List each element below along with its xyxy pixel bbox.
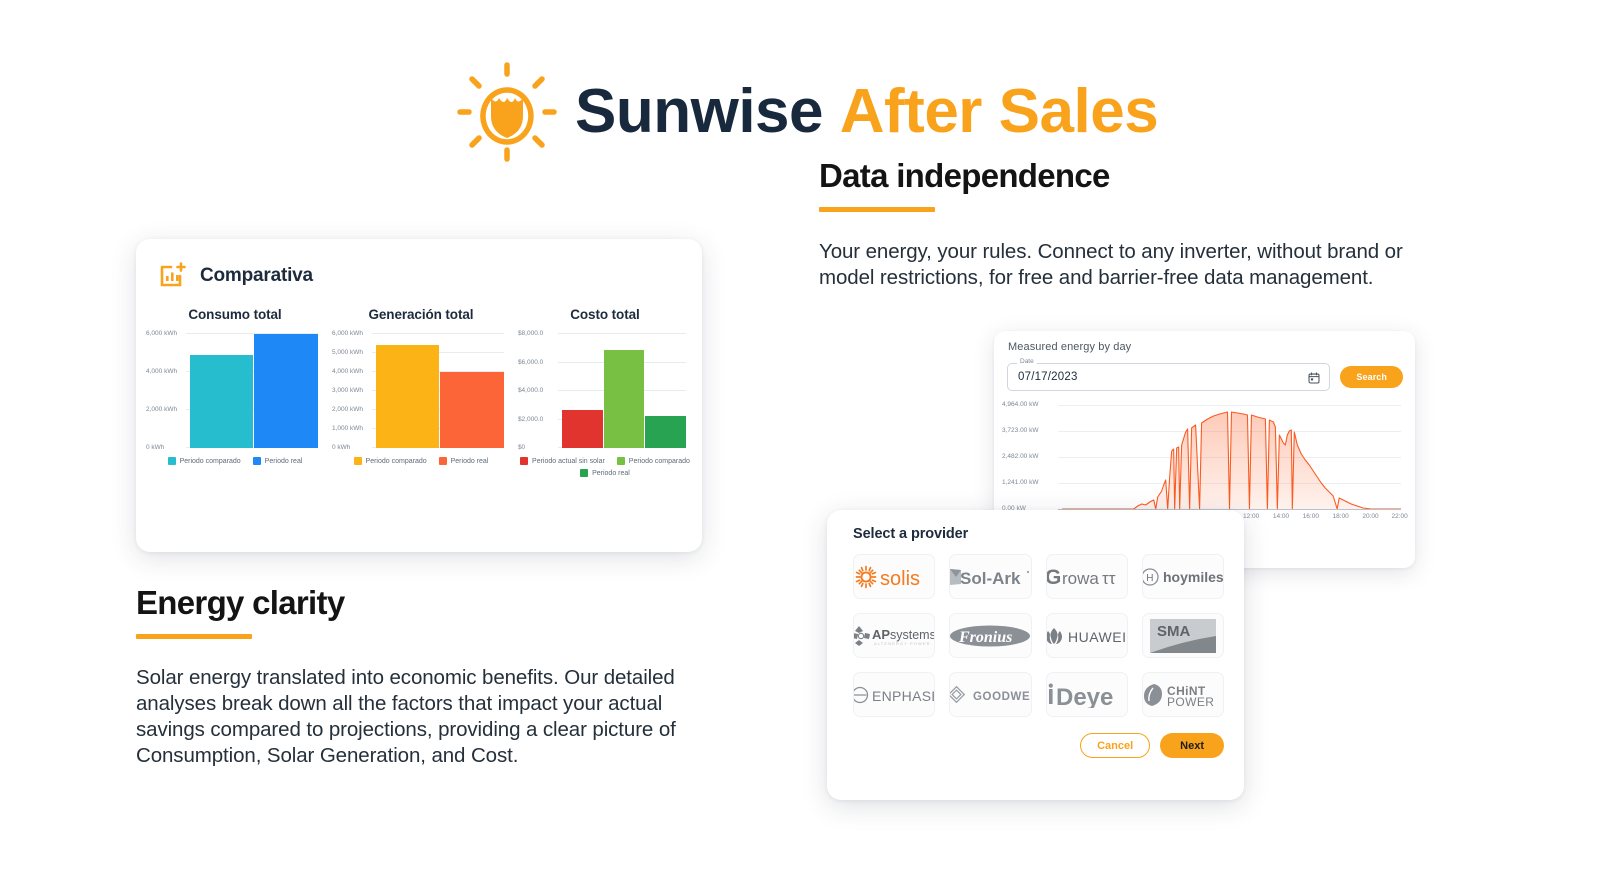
- apsystems-logo: AP systems ALTENERGY POWER: [853, 623, 935, 649]
- legend-swatch: [168, 457, 176, 465]
- provider-tile-fronius[interactable]: Fronius: [949, 613, 1031, 658]
- energy-clarity-body: Solar energy translated into economic be…: [136, 665, 711, 769]
- xtick-label: 18:00: [1333, 513, 1349, 520]
- page-title: Data independence: [819, 158, 1444, 194]
- provider-grid: solis Sol-Ark G: [853, 554, 1224, 717]
- xtick-label: 12:00: [1243, 513, 1259, 520]
- chint-power-logo: CHiNT POWER: [1142, 682, 1224, 708]
- legend-label: Periodo real: [451, 458, 489, 465]
- legend-label: Periodo real: [592, 470, 630, 477]
- ytick-label: 0 kWh: [332, 445, 350, 452]
- date-search-row: Date 07/17/2023 Search: [994, 353, 1415, 391]
- provider-tile-sol-ark[interactable]: Sol-Ark: [949, 554, 1031, 599]
- legend-swatch: [617, 457, 625, 465]
- svg-text:HUAWEI: HUAWEI: [1068, 629, 1126, 645]
- svg-text:rowa: rowa: [1062, 569, 1099, 588]
- legend-swatch: [354, 457, 362, 465]
- search-button[interactable]: Search: [1340, 366, 1403, 388]
- heading-underline: [819, 207, 935, 212]
- heading-underline: [136, 634, 252, 639]
- comparativa-card: Comparativa Consumo total: [136, 239, 702, 552]
- svg-text:AP: AP: [872, 627, 890, 642]
- bar-periodo-actual-sin-solar: [562, 410, 603, 448]
- legend-item: Periodo comparado: [617, 457, 690, 465]
- legend-item: Periodo actual sin solar: [520, 457, 605, 465]
- ytick-label: 4,000 kWh: [332, 369, 363, 376]
- date-field-label: Date: [1017, 358, 1037, 365]
- bar-periodo-comparado: [604, 350, 645, 448]
- provider-tile-sma[interactable]: SMA: [1142, 613, 1224, 658]
- ytick-label: $8,000.0: [518, 331, 543, 338]
- provider-tile-huawei[interactable]: HUAWEI: [1046, 613, 1128, 658]
- svg-text:solis: solis: [880, 568, 920, 590]
- svg-text:ττ: ττ: [1102, 569, 1116, 588]
- brand-name-secondary: After Sales: [840, 77, 1158, 146]
- deye-logo: Deye: [1046, 682, 1128, 708]
- chart-title: Consumo total: [142, 307, 328, 322]
- provider-actions: Cancel Next: [853, 733, 1224, 758]
- provider-tile-deye[interactable]: Deye: [1046, 672, 1128, 717]
- svg-text:ENPHASE: ENPHASE: [872, 688, 935, 704]
- ytick-label: 4,964.00 kW: [1002, 402, 1039, 409]
- legend-item: Periodo comparado: [354, 457, 427, 465]
- bar-periodo-real: [440, 372, 503, 448]
- slide-root: Sunwise After Sales Comparativa Consumo …: [0, 0, 1600, 878]
- ytick-label: 3,723.00 kW: [1002, 428, 1039, 435]
- solis-logo: solis: [853, 564, 935, 590]
- legend-label: Periodo actual sin solar: [532, 458, 605, 465]
- huawei-logo: HUAWEI: [1046, 625, 1128, 647]
- ytick-label: $6,000.0: [518, 359, 543, 366]
- provider-tile-enphase[interactable]: ENPHASE: [853, 672, 935, 717]
- provider-tile-apsystems[interactable]: AP systems ALTENERGY POWER: [853, 613, 935, 658]
- date-input-value: 07/17/2023: [1018, 371, 1078, 383]
- chart-legend: Periodo comparado Periodo real: [142, 457, 328, 465]
- legend-swatch: [580, 469, 588, 477]
- sol-ark-logo: Sol-Ark: [949, 566, 1031, 588]
- ytick-label: 1,241.00 kW: [1002, 480, 1039, 487]
- bar-periodo-comparado: [376, 345, 439, 449]
- ytick-label: 6,000 kWh: [332, 331, 363, 338]
- chart-plot-area: 6,000 kWh 5,000 kWh 4,000 kWh 3,000 kWh …: [332, 334, 508, 448]
- legend-swatch: [439, 457, 447, 465]
- ytick-label: 5,000 kWh: [332, 350, 363, 357]
- svg-text:ALTENERGY POWER: ALTENERGY POWER: [874, 641, 931, 646]
- bar-periodo-real: [254, 334, 317, 448]
- svg-text:G: G: [1046, 566, 1061, 588]
- ytick-label: 2,000 kWh: [332, 407, 363, 414]
- chart-title: Generación total: [328, 307, 514, 322]
- xtick-label: 16:00: [1303, 513, 1319, 520]
- chart-consumo-total: Consumo total 6,000 kWh 4,000 kWh: [142, 307, 328, 477]
- svg-text:H: H: [1146, 573, 1153, 584]
- measured-energy-title: Measured energy by day: [994, 331, 1415, 353]
- provider-tile-goodwe[interactable]: GOODWE: [949, 672, 1031, 717]
- xtick-label: 20:00: [1362, 513, 1378, 520]
- sma-logo: SMA: [1150, 619, 1216, 653]
- provider-tile-hoymiles[interactable]: H hoymiles: [1142, 554, 1224, 599]
- data-independence-section: Data independence Your energy, your rule…: [819, 158, 1444, 291]
- measured-energy-chart: 00:00 02:00 04:00 06:00 08:00 10:00 12:0…: [1002, 405, 1405, 525]
- next-button[interactable]: Next: [1160, 733, 1224, 758]
- hoymiles-logo: H hoymiles: [1142, 566, 1224, 588]
- total-generation-area: [1062, 405, 1401, 509]
- svg-text:POWER: POWER: [1167, 695, 1214, 708]
- select-provider-card: Select a provider: [827, 510, 1244, 800]
- enphase-logo: ENPHASE: [853, 685, 935, 705]
- chart-generacion-total: Generación total: [328, 307, 514, 477]
- growatt-logo: G rowa ττ: [1046, 566, 1128, 588]
- bar-chart-plus-icon: [158, 261, 188, 291]
- legend-item: Periodo real: [516, 469, 694, 477]
- ytick-label: 2,000 kWh: [146, 407, 177, 414]
- ytick-label: 1,000 kWh: [332, 426, 363, 433]
- brand-title: Sunwise After Sales: [575, 81, 1158, 143]
- chart-plot-area: $8,000.0 $6,000.0 $4,000.0 $2,000.0 $0: [518, 334, 690, 448]
- chart-legend: Periodo actual sin solar Periodo compara…: [514, 457, 696, 477]
- ytick-label: 6,000 kWh: [146, 331, 177, 338]
- legend-item: Periodo real: [439, 457, 489, 465]
- ytick-label: 0 kWh: [146, 445, 164, 452]
- xtick-label: 14:00: [1273, 513, 1289, 520]
- fronius-logo: Fronius: [949, 623, 1031, 649]
- chart-legend: Periodo comparado Periodo real: [328, 457, 514, 465]
- sun-shield-icon: [455, 60, 559, 164]
- bar-periodo-comparado: [190, 355, 253, 448]
- legend-label: Periodo comparado: [366, 458, 427, 465]
- ytick-label: 4,000 kWh: [146, 369, 177, 376]
- provider-tile-solis[interactable]: solis: [853, 554, 935, 599]
- mini-charts-row: Consumo total 6,000 kWh 4,000 kWh: [136, 291, 702, 477]
- brand-name-primary: Sunwise: [575, 77, 823, 146]
- ytick-label: $4,000.0: [518, 388, 543, 395]
- ytick-label: 2,482.00 kW: [1002, 454, 1039, 461]
- svg-text:Deye: Deye: [1056, 684, 1113, 708]
- bar-periodo-real: [645, 416, 686, 448]
- ytick-label: $0: [518, 445, 525, 452]
- chart-plot-area: 6,000 kWh 4,000 kWh 2,000 kWh 0 kWh: [146, 334, 322, 448]
- page-title: Energy clarity: [136, 585, 711, 621]
- legend-item: Periodo comparado: [168, 457, 241, 465]
- ytick-label: 3,000 kWh: [332, 388, 363, 395]
- legend-swatch: [253, 457, 261, 465]
- date-input[interactable]: Date 07/17/2023: [1007, 363, 1330, 391]
- goodwe-logo: GOODWE: [949, 685, 1031, 705]
- comparativa-title: Comparativa: [200, 265, 313, 287]
- brand-header: Sunwise After Sales: [455, 60, 1158, 164]
- cancel-button[interactable]: Cancel: [1080, 733, 1150, 758]
- ytick-label: $2,000.0: [518, 416, 543, 423]
- svg-text:systems: systems: [890, 628, 935, 642]
- calendar-icon[interactable]: [1308, 371, 1320, 383]
- provider-tile-growatt[interactable]: G rowa ττ: [1046, 554, 1128, 599]
- legend-item: Periodo real: [253, 457, 303, 465]
- svg-text:GOODWE: GOODWE: [973, 691, 1030, 703]
- legend-label: Periodo real: [265, 458, 303, 465]
- data-independence-body: Your energy, your rules. Connect to any …: [819, 239, 1444, 291]
- svg-text:Sol-Ark: Sol-Ark: [960, 569, 1021, 588]
- svg-text:SMA: SMA: [1157, 623, 1191, 640]
- chart-title: Costo total: [514, 307, 696, 322]
- legend-label: Periodo comparado: [629, 458, 690, 465]
- energy-clarity-section: Energy clarity Solar energy translated i…: [136, 585, 711, 769]
- legend-swatch: [520, 457, 528, 465]
- comparativa-header: Comparativa: [136, 239, 702, 291]
- svg-text:hoymiles: hoymiles: [1163, 569, 1224, 585]
- provider-tile-chint-power[interactable]: CHiNT POWER: [1142, 672, 1224, 717]
- select-provider-title: Select a provider: [853, 526, 1224, 542]
- legend-label: Periodo comparado: [180, 458, 241, 465]
- svg-text:Fronius: Fronius: [958, 629, 1012, 646]
- xtick-label: 22:00: [1392, 513, 1408, 520]
- chart-costo-total: Costo total $8,000.0: [514, 307, 696, 477]
